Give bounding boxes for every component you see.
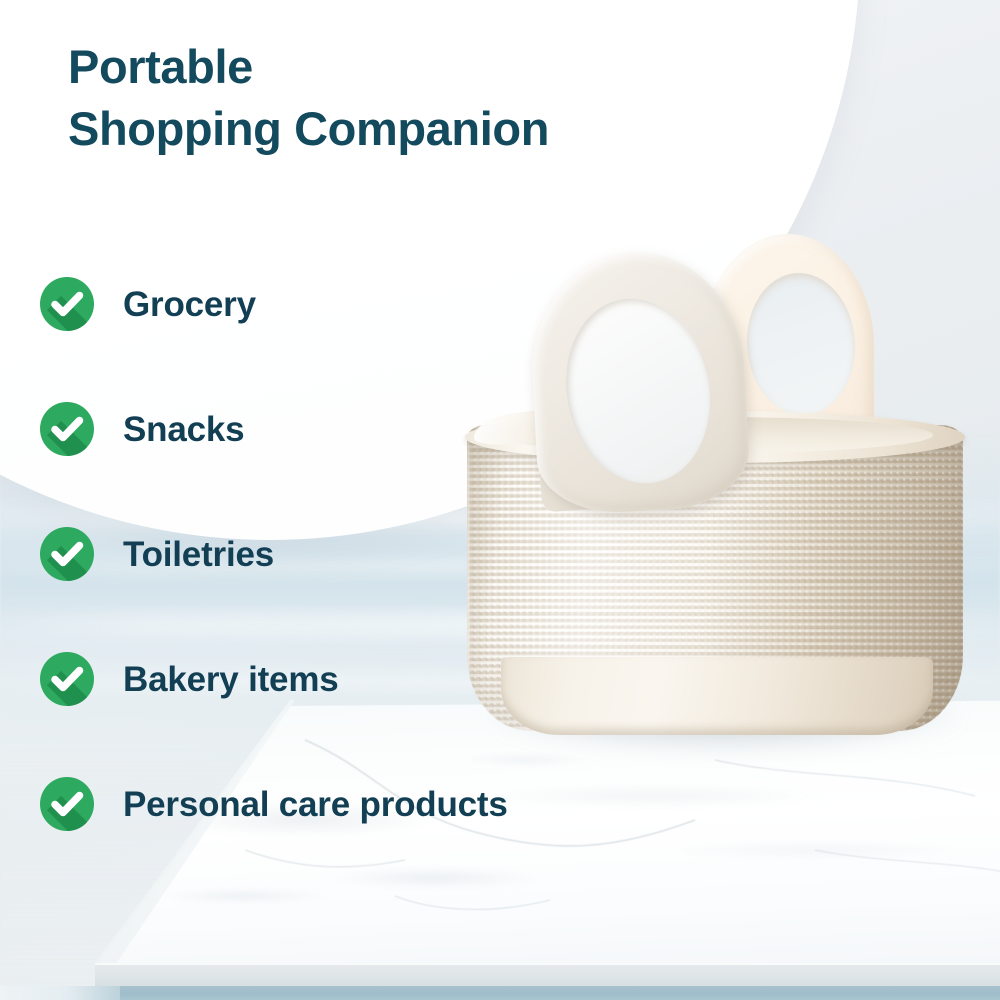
- feature-label: Snacks: [123, 412, 244, 447]
- check-circle-icon: [40, 777, 94, 831]
- check-circle-icon: [40, 402, 94, 456]
- feature-label: Personal care products: [123, 787, 508, 822]
- countertop-front-edge: [95, 963, 1000, 986]
- feature-label: Grocery: [123, 287, 256, 322]
- check-mark-glyph: [40, 527, 94, 581]
- check-mark-glyph: [40, 652, 94, 706]
- check-mark-glyph: [40, 402, 94, 456]
- feature-item-personal-care-products: Personal care products: [40, 773, 660, 835]
- floor-band: [0, 986, 1000, 1000]
- feature-item-toiletries: Toiletries: [40, 523, 660, 585]
- feature-label: Bakery items: [123, 662, 339, 697]
- floor-band-left: [0, 986, 120, 1000]
- page-title: Portable Shopping Companion: [68, 36, 549, 160]
- check-circle-icon: [40, 277, 94, 331]
- check-circle-icon: [40, 527, 94, 581]
- feature-item-grocery: Grocery: [40, 273, 660, 335]
- check-circle-icon: [40, 652, 94, 706]
- check-mark-glyph: [40, 277, 94, 331]
- check-mark-glyph: [40, 777, 94, 831]
- feature-list: Grocery Snacks Toiletries: [40, 273, 660, 835]
- product-infographic: Portable Shopping Companion Grocery Snac…: [0, 0, 1000, 1000]
- feature-item-bakery-items: Bakery items: [40, 648, 660, 710]
- feature-item-snacks: Snacks: [40, 398, 660, 460]
- feature-label: Toiletries: [123, 537, 274, 572]
